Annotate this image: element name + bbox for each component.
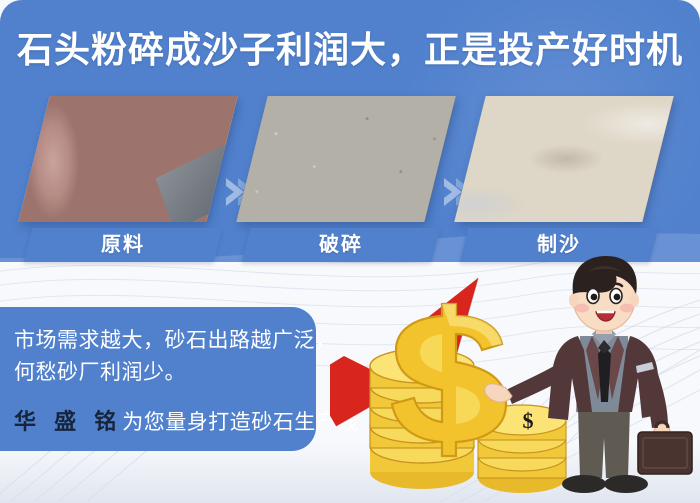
step-photo-frame: [236, 96, 455, 222]
process-step-raw-material[interactable]: 原料: [34, 96, 230, 262]
copy-line: 何愁砂厂利润少。: [14, 357, 314, 389]
copy-line: 市场需求越大，砂石出路越广泛，: [14, 325, 314, 357]
businessman-with-money-illustration: $ $: [330, 250, 700, 503]
marketing-copy-box: 市场需求越大，砂石出路越广泛， 何愁砂厂利润少。 华 盛 铭为您量身打造砂石生产…: [0, 307, 316, 451]
svg-text:$: $: [523, 408, 534, 433]
brand-name: 华 盛 铭: [14, 409, 122, 434]
step-label: 原料: [24, 228, 222, 262]
process-step-sand-making[interactable]: 制沙: [470, 96, 666, 262]
promo-banner: 石头粉碎成沙子利润大，正是投产好时机 原料 破碎: [0, 0, 700, 503]
step-photo-frame: [18, 96, 237, 222]
crushed-gravel-photo: [236, 96, 455, 222]
banner-title: 石头粉碎成沙子利润大，正是投产好时机: [0, 22, 700, 78]
river-pebbles-photo: [18, 96, 237, 222]
step-photo-frame: [454, 96, 673, 222]
process-step-crushing[interactable]: 破碎: [252, 96, 448, 262]
marketing-copy-lines: 市场需求越大，砂石出路越广泛， 何愁砂厂利润少。: [14, 325, 314, 389]
step-label-text: 原料: [28, 228, 218, 262]
brand-tagline: 为您量身打造砂石生产线: [122, 411, 359, 434]
manufactured-sand-photo: [454, 96, 673, 222]
brand-line: 华 盛 铭为您量身打造砂石生产线: [14, 407, 359, 438]
